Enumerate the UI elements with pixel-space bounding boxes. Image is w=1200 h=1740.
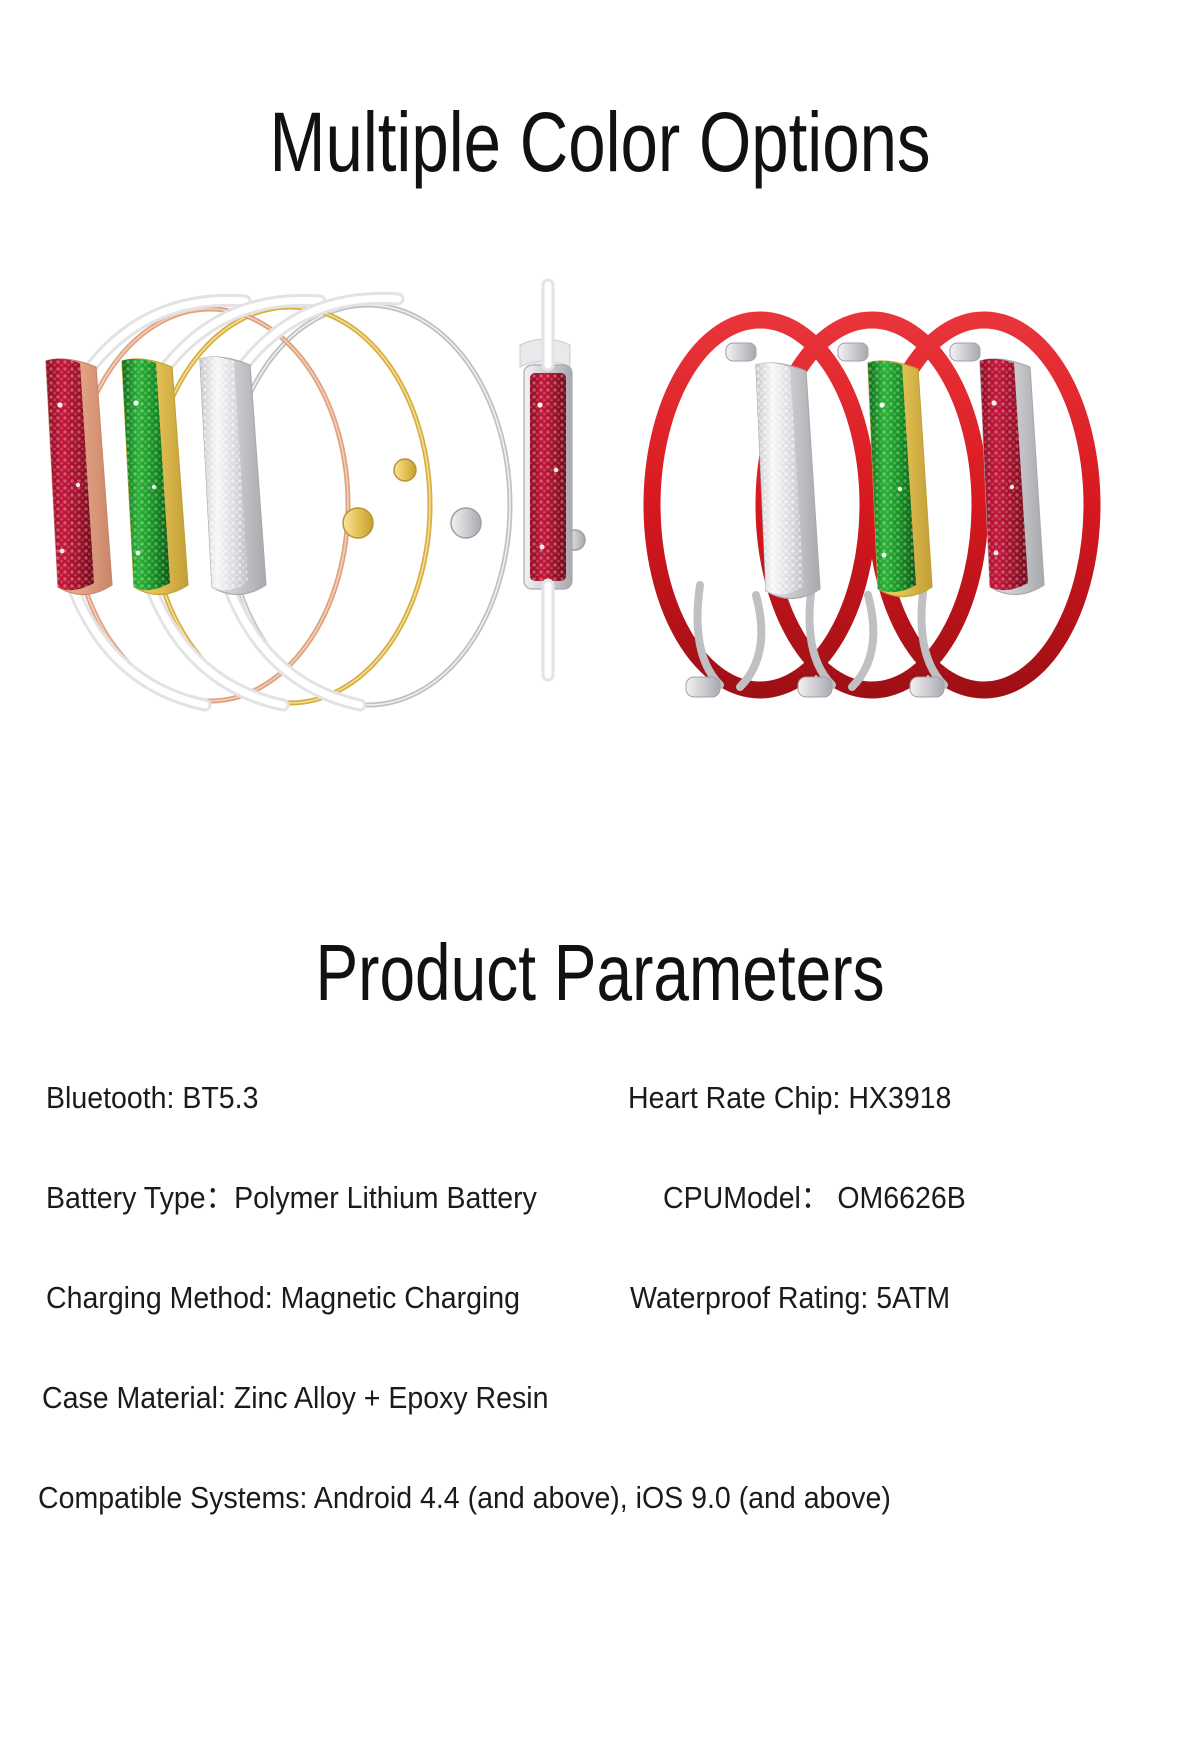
variant-gold-green	[122, 359, 188, 595]
variant-red-cord-green	[868, 361, 932, 597]
product-detail-page: Multiple Color Options	[0, 0, 1200, 1740]
parameter-row-bluetooth: Bluetooth: BT5.3 Heart Rate Chip: HX3918	[0, 1048, 1200, 1148]
parameter-case-material: Case Material: Zinc Alloy + Epoxy Resin	[42, 1378, 548, 1418]
page-title-product-parameters: Product Parameters	[120, 925, 1080, 1021]
variant-vertical-red	[518, 285, 576, 675]
parameter-charging-method: Charging Method: Magnetic Charging	[46, 1278, 520, 1318]
page-title-color-options: Multiple Color Options	[120, 92, 1080, 192]
parameter-row-charging: Charging Method: Magnetic Charging Water…	[0, 1248, 1200, 1348]
parameter-heart-rate-chip: Heart Rate Chip: HX3918	[628, 1078, 951, 1118]
product-gallery-image	[0, 255, 1200, 755]
parameter-cpu-model: CPUModel： OM6626B	[663, 1178, 966, 1218]
bracelet-variants-illustration	[0, 255, 1200, 755]
variant-silver-white	[200, 357, 266, 595]
variant-rose-gold-red	[46, 359, 112, 595]
red-cord-group	[652, 320, 1092, 697]
parameter-waterproof-rating: Waterproof Rating: 5ATM	[630, 1278, 950, 1318]
variant-red-cord-silver	[756, 363, 820, 599]
parameter-row-battery: Battery Type：Polymer Lithium Battery CPU…	[0, 1148, 1200, 1248]
parameter-compatible-systems: Compatible Systems: Android 4.4 (and abo…	[38, 1478, 891, 1518]
product-parameters-list: Bluetooth: BT5.3 Heart Rate Chip: HX3918…	[0, 1048, 1200, 1548]
parameter-row-case-material: Case Material: Zinc Alloy + Epoxy Resin	[0, 1348, 1200, 1448]
parameter-battery-type: Battery Type：Polymer Lithium Battery	[46, 1178, 537, 1218]
parameter-row-compatible-systems: Compatible Systems: Android 4.4 (and abo…	[0, 1448, 1200, 1548]
crystal-chain-group	[46, 285, 585, 705]
variant-red-cord-red	[980, 359, 1044, 595]
parameter-bluetooth: Bluetooth: BT5.3	[46, 1078, 258, 1118]
